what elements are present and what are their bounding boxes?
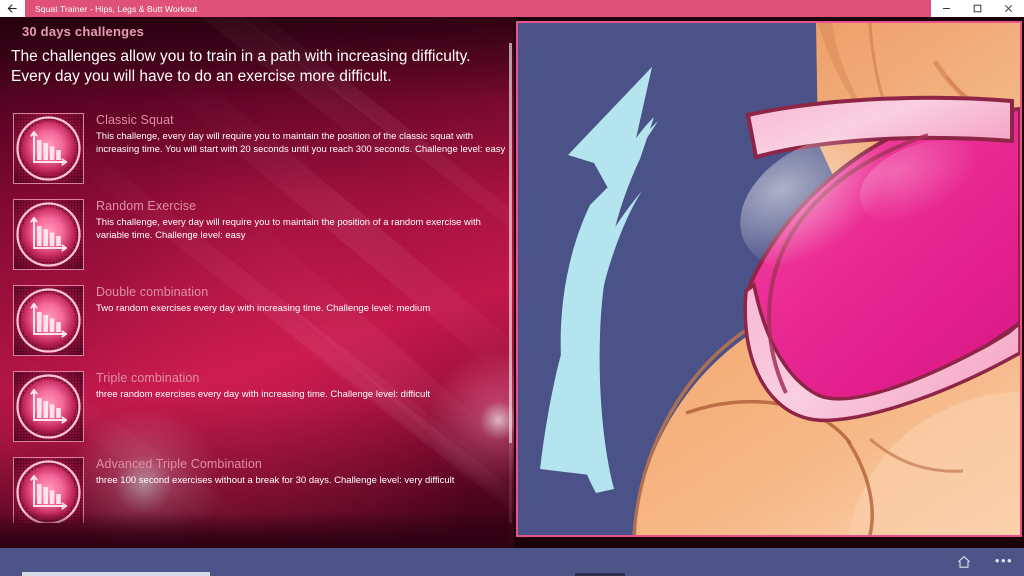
challenge-list-item[interactable]: Triple combinationthree random exercises… [0,369,508,455]
maximize-icon [972,3,983,14]
window-controls [931,0,1024,17]
bar-chart-badge-icon [13,113,84,184]
challenge-text: Triple combinationthree random exercises… [96,370,506,401]
challenge-description: three random exercises every day with in… [96,388,506,401]
challenge-text: Advanced Triple Combinationthree 100 sec… [96,456,506,487]
glute-workout-illustration [516,21,1022,537]
challenge-list-item[interactable]: Random ExerciseThis challenge, every day… [0,197,508,283]
back-arrow-icon [7,3,18,14]
challenge-title: Double combination [96,284,506,301]
challenge-title: Advanced Triple Combination [96,456,506,473]
taskbar-indicator [22,572,210,576]
minimize-icon [941,3,952,14]
bar-chart-badge-icon [13,199,84,270]
challenge-list-item[interactable]: Double combinationTwo random exercises e… [0,283,508,369]
challenge-text: Double combinationTwo random exercises e… [96,284,506,315]
challenge-description: This challenge, every day will require y… [96,130,506,156]
illustration-panel [514,17,1024,548]
challenge-list-item[interactable]: Classic SquatThis challenge, every day w… [0,111,508,197]
challenge-text: Random ExerciseThis challenge, every day… [96,198,506,242]
challenge-title: Classic Squat [96,112,506,129]
vertical-scrollbar[interactable] [509,43,512,523]
challenge-list[interactable]: Classic SquatThis challenge, every day w… [0,111,508,523]
app-content: 30 days challenges The challenges allow … [0,17,1024,548]
window-titlebar: Squat Trainer - Hips, Legs & Butt Workou… [0,0,1024,17]
minimize-button[interactable] [931,0,962,17]
illustration-svg [518,23,1020,535]
close-icon [1003,3,1014,14]
challenge-description: three 100 second exercises without a bre… [96,474,506,487]
challenge-title: Random Exercise [96,198,506,215]
challenge-description: This challenge, every day will require y… [96,216,506,242]
back-button[interactable] [0,0,25,17]
close-button[interactable] [993,0,1024,17]
more-options-button[interactable]: ••• [984,548,1024,576]
challenge-list-item[interactable]: Advanced Triple Combinationthree 100 sec… [0,455,508,523]
page-title: 30 days challenges [22,24,144,39]
home-button[interactable] [944,548,984,576]
home-icon [957,555,971,569]
bar-chart-badge-icon [13,457,84,523]
challenge-title: Triple combination [96,370,506,387]
challenge-text: Classic SquatThis challenge, every day w… [96,112,506,156]
page-intro-text: The challenges allow you to train in a p… [11,47,506,87]
more-ellipsis-icon: ••• [995,554,1013,571]
maximize-button[interactable] [962,0,993,17]
challenge-description: Two random exercises every day with incr… [96,302,506,315]
bar-chart-badge-icon [13,285,84,356]
bar-chart-badge-icon [13,371,84,442]
window-title: Squat Trainer - Hips, Legs & Butt Workou… [25,0,931,17]
scrollbar-thumb[interactable] [509,43,512,443]
challenges-panel: 30 days challenges The challenges allow … [0,17,514,548]
